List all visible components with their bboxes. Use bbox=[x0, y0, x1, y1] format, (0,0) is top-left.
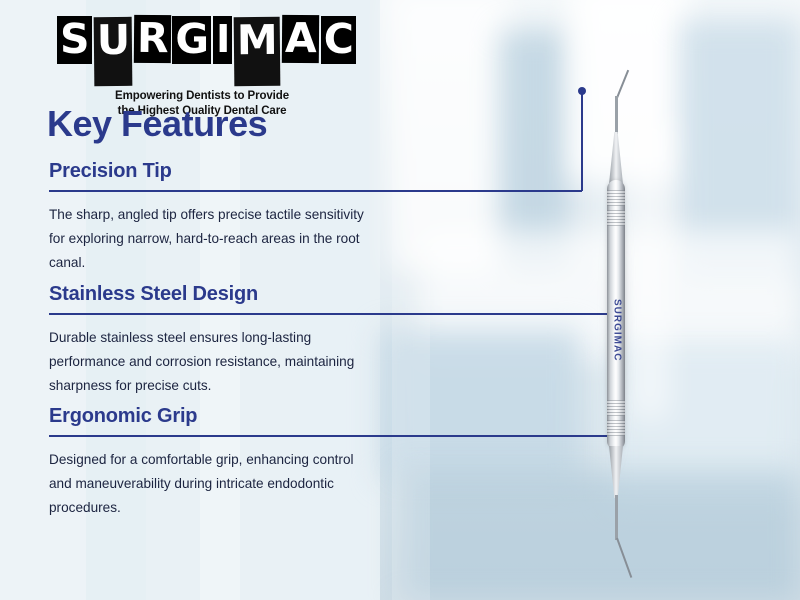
instrument-knurl-bottom-2 bbox=[607, 400, 625, 416]
instrument-knurl-top bbox=[607, 190, 625, 206]
poster-canvas: S U R G I M A C Empowering Dentists to P… bbox=[0, 0, 800, 600]
feature-title: Precision Tip bbox=[49, 160, 649, 183]
feature-divider bbox=[49, 190, 582, 192]
dental-instrument-image: SURGIMAC bbox=[560, 40, 670, 570]
instrument-knurl-bottom bbox=[607, 420, 625, 436]
feature-block-stainless-steel-design: Stainless Steel Design Durable stainless… bbox=[49, 283, 649, 398]
logo-letter-u: U bbox=[93, 17, 132, 86]
instrument-knurl-top-2 bbox=[607, 210, 625, 226]
logo-letter-i: I bbox=[213, 16, 232, 64]
logo-letter-m: M bbox=[234, 17, 281, 86]
logo-letter-c: C bbox=[321, 16, 356, 64]
logo-wordmark: S U R G I M A C bbox=[57, 16, 357, 85]
logo-letter-s: S bbox=[57, 16, 92, 64]
logo-letter-a: A bbox=[282, 15, 319, 63]
feature-title: Stainless Steel Design bbox=[49, 283, 649, 306]
logo-letter-r: R bbox=[134, 15, 171, 63]
feature-body: Designed for a comfortable grip, enhanci… bbox=[49, 448, 369, 520]
logo-letter-g: G bbox=[172, 16, 211, 64]
brand-tagline-line-1: Empowering Dentists to Provide bbox=[57, 89, 347, 104]
feature-divider bbox=[49, 435, 612, 437]
feature-body: Durable stainless steel ensures long-las… bbox=[49, 326, 369, 398]
feature-title: Ergonomic Grip bbox=[49, 405, 649, 428]
page-title: Key Features bbox=[47, 103, 267, 145]
feature-divider bbox=[49, 313, 607, 315]
feature-body: The sharp, angled tip offers precise tac… bbox=[49, 203, 369, 275]
feature-block-precision-tip: Precision Tip The sharp, angled tip offe… bbox=[49, 160, 649, 275]
instrument-tip-top-angled bbox=[616, 70, 629, 99]
instrument-taper-top bbox=[609, 132, 623, 184]
instrument-brand-label: SURGIMAC bbox=[609, 285, 625, 375]
instrument-tip-bottom bbox=[615, 495, 618, 540]
feature-block-ergonomic-grip: Ergonomic Grip Designed for a comfortabl… bbox=[49, 405, 649, 520]
instrument-tip-top bbox=[615, 96, 618, 134]
